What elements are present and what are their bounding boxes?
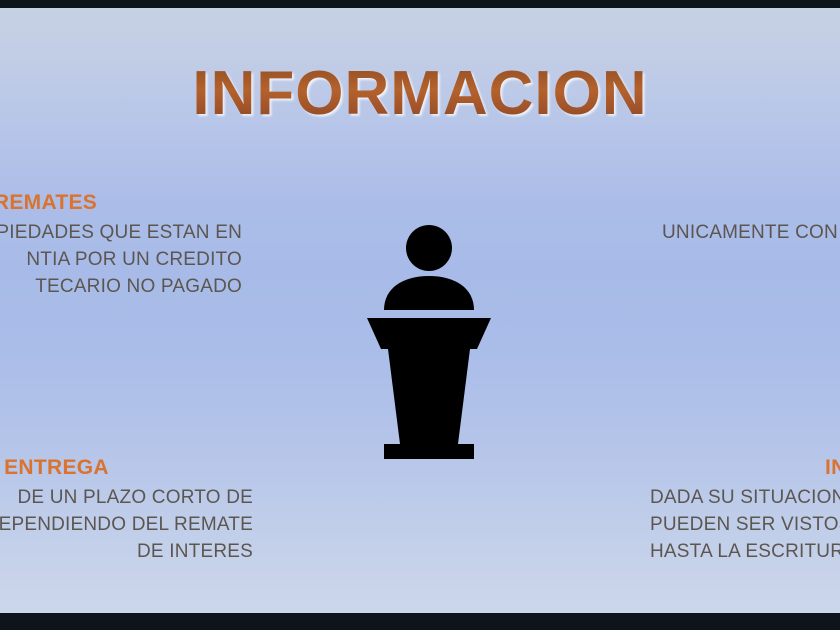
info-block-entrega-line-1: DE UN PLAZO CORTO DE (0, 484, 253, 511)
info-block-remates-line-3: TECARIO NO PAGADO (0, 273, 242, 300)
info-block-entrega-line-3: DE INTERES (0, 538, 253, 565)
info-block-remates-line-2: NTIA POR UN CREDITO (0, 246, 242, 273)
info-block-pago: PAGO UNICAMENTE CON (662, 191, 840, 246)
podium-speaker-icon (359, 222, 499, 472)
info-block-entrega: ENTREGA DE UN PLAZO CORTO DE EPENDIENDO … (0, 456, 253, 565)
slide-canvas: INFORMACION REMATES PIEDADES QUE ESTAN E… (0, 8, 840, 613)
page-title: INFORMACION (0, 58, 840, 129)
info-block-remates-line-1: PIEDADES QUE ESTAN EN (0, 219, 242, 246)
slide-root: INFORMACION REMATES PIEDADES QUE ESTAN E… (0, 0, 840, 630)
info-block-inmuebles: INMUEBLE DADA SU SITUACION PUEDEN SER VI… (650, 456, 840, 565)
info-block-inmuebles-heading: INMUEBLE (650, 456, 840, 480)
info-block-entrega-heading: ENTREGA (0, 456, 253, 480)
info-block-pago-heading: PAGO (662, 191, 840, 215)
info-block-inmuebles-line-3: HASTA LA ESCRITUR (650, 538, 840, 565)
info-block-remates-heading: REMATES (0, 191, 242, 215)
letterbox-bottom-bar (0, 613, 840, 630)
info-block-remates: REMATES PIEDADES QUE ESTAN EN NTIA POR U… (0, 191, 242, 300)
letterbox-top-bar (0, 0, 840, 8)
info-block-inmuebles-line-1: DADA SU SITUACION (650, 484, 840, 511)
info-block-pago-line-1: UNICAMENTE CON (662, 219, 840, 246)
info-block-entrega-line-2: EPENDIENDO DEL REMATE (0, 511, 253, 538)
info-block-inmuebles-line-2: PUEDEN SER VISTOS PO (650, 511, 840, 538)
